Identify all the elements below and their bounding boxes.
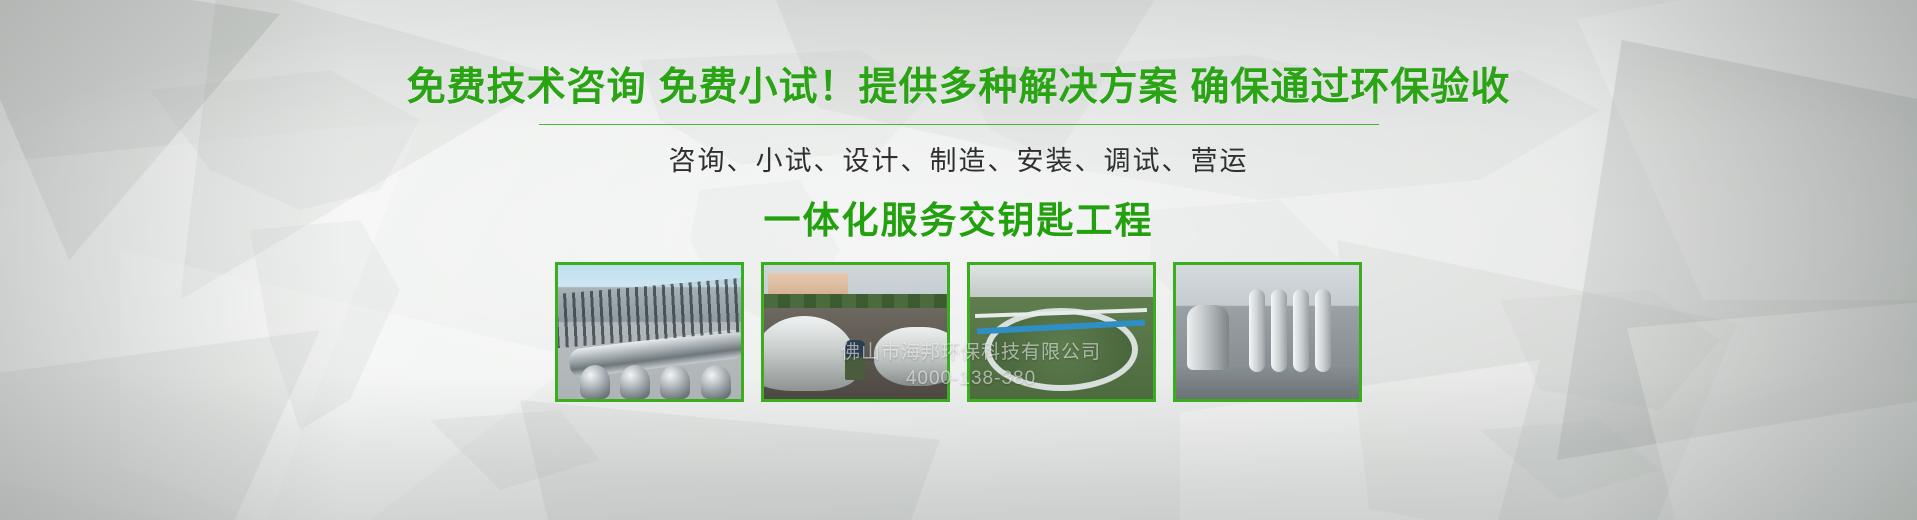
membrane-column (1249, 289, 1265, 372)
headline-divider (539, 124, 1379, 125)
tree-line-shape (764, 294, 947, 307)
photo-clarifier (970, 265, 1153, 399)
banner-main-title: 一体化服务交钥匙工程 (764, 190, 1154, 244)
tank-shape (660, 365, 690, 399)
tank-shape (580, 365, 610, 399)
pressure-tank-shape (1187, 305, 1229, 369)
thumb-frp-tanks-worker[interactable] (761, 262, 950, 402)
vessel-shape (761, 316, 856, 391)
worker-figure (845, 340, 865, 380)
banner-subtitle: 咨询、小试、设计、制造、安装、调试、营运 (669, 139, 1249, 178)
tank-shape (620, 365, 650, 399)
thumb-clarifier-sedimentation-tank[interactable] (967, 262, 1156, 402)
photo-industrial-plant (558, 265, 741, 399)
building-shape (970, 265, 1153, 297)
membrane-column (1315, 289, 1331, 372)
tank-shape (701, 365, 731, 399)
membrane-column (1271, 289, 1287, 372)
photo-frp-tanks (764, 265, 947, 399)
banner-headline: 免费技术咨询 免费小试！提供多种解决方案 确保通过环保验收 (407, 56, 1511, 112)
photo-ro-skid (1176, 265, 1359, 399)
thumb-ro-membrane-skid[interactable] (1173, 262, 1362, 402)
promotional-banner: 免费技术咨询 免费小试！提供多种解决方案 确保通过环保验收 咨询、小试、设计、制… (0, 0, 1917, 520)
thumb-industrial-plant-ducting[interactable] (555, 262, 744, 402)
vessel-shape (874, 327, 950, 386)
banner-content: 免费技术咨询 免费小试！提供多种解决方案 确保通过环保验收 咨询、小试、设计、制… (0, 0, 1917, 520)
membrane-column (1293, 289, 1309, 372)
thumbnail-strip: 佛山市海邦环保科技有限公司 4000-138-380 (555, 262, 1362, 402)
